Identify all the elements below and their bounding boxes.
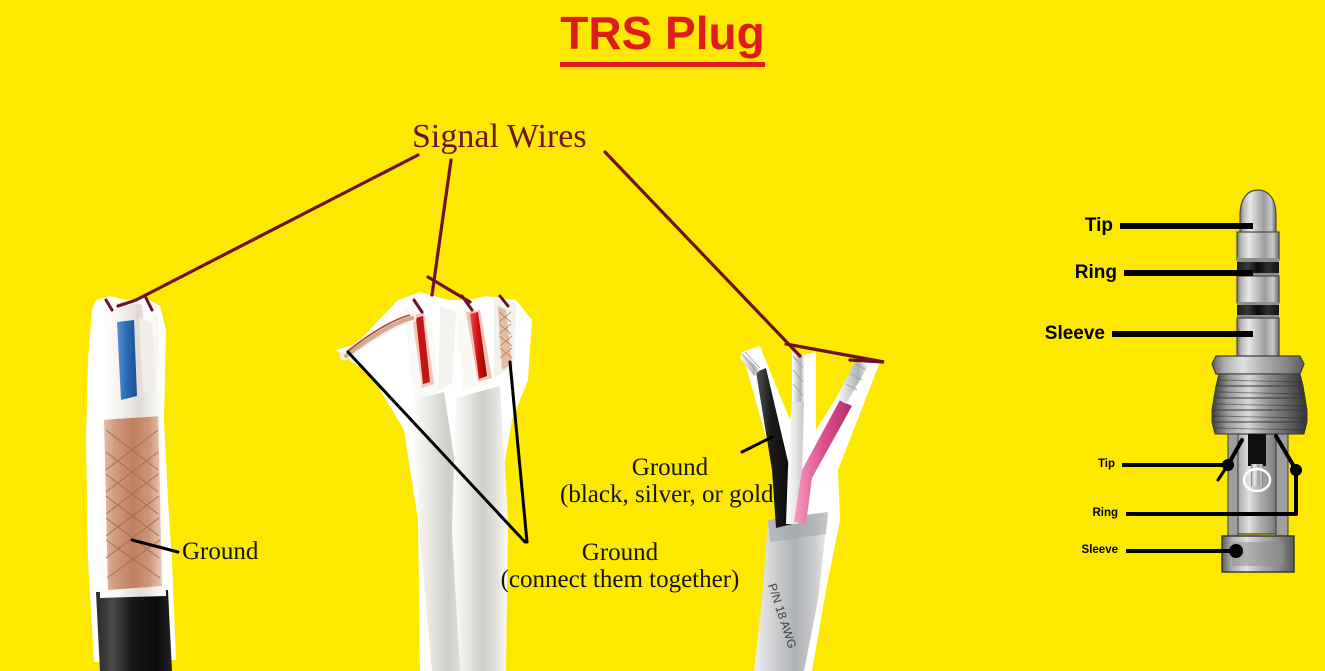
ground-label-cable2-line1: Ground — [500, 539, 740, 566]
signal-wires-label: Signal Wires — [412, 118, 587, 156]
solder-point-ring — [1290, 464, 1302, 476]
plug-solder-callout-tip: Tip — [1050, 458, 1115, 470]
ground-label-cable2-line2: (connect them together) — [500, 566, 740, 593]
ground-label-cable3: Ground (black, silver, or gold) — [560, 454, 780, 508]
svg-text:P/N 18 AWG: P/N 18 AWG — [765, 582, 799, 651]
solder-point-tip — [1222, 459, 1234, 471]
ground-label-cable2: Ground (connect them together) — [500, 539, 740, 593]
leader-line-ground-cable2-a — [348, 352, 525, 542]
ground-label-cable3-line2: (black, silver, or gold) — [560, 481, 780, 508]
leader-line-ground-cable1 — [132, 540, 178, 552]
trs-plug-diagram-page: TRS Plug — [0, 0, 1325, 671]
leader-line-signal-middle-a — [432, 160, 451, 295]
leader-line-signal-right — [605, 152, 800, 356]
leader-line-ground-cable2-b — [510, 362, 527, 542]
leader-line-ground-cable3 — [742, 437, 772, 452]
page-title-text: TRS Plug — [560, 6, 764, 67]
leader-line-signal-middle-b — [428, 277, 470, 302]
plug-callout-ring: Ring — [1000, 262, 1117, 284]
ground-label-cable1: Ground — [182, 538, 258, 565]
leader-line-signal-left — [118, 155, 418, 306]
plug-solder-callout-sleeve: Sleeve — [1030, 544, 1118, 556]
plug-callout-tip: Tip — [1000, 215, 1113, 237]
leader-line-signal-right-b — [786, 344, 884, 362]
ground-label-cable3-line1: Ground — [560, 454, 780, 481]
plug-solder-callout-ring: Ring — [1044, 507, 1118, 519]
plug-callout-sleeve: Sleeve — [975, 323, 1105, 345]
solder-point-sleeve — [1229, 544, 1243, 558]
page-title: TRS Plug — [0, 6, 1325, 67]
